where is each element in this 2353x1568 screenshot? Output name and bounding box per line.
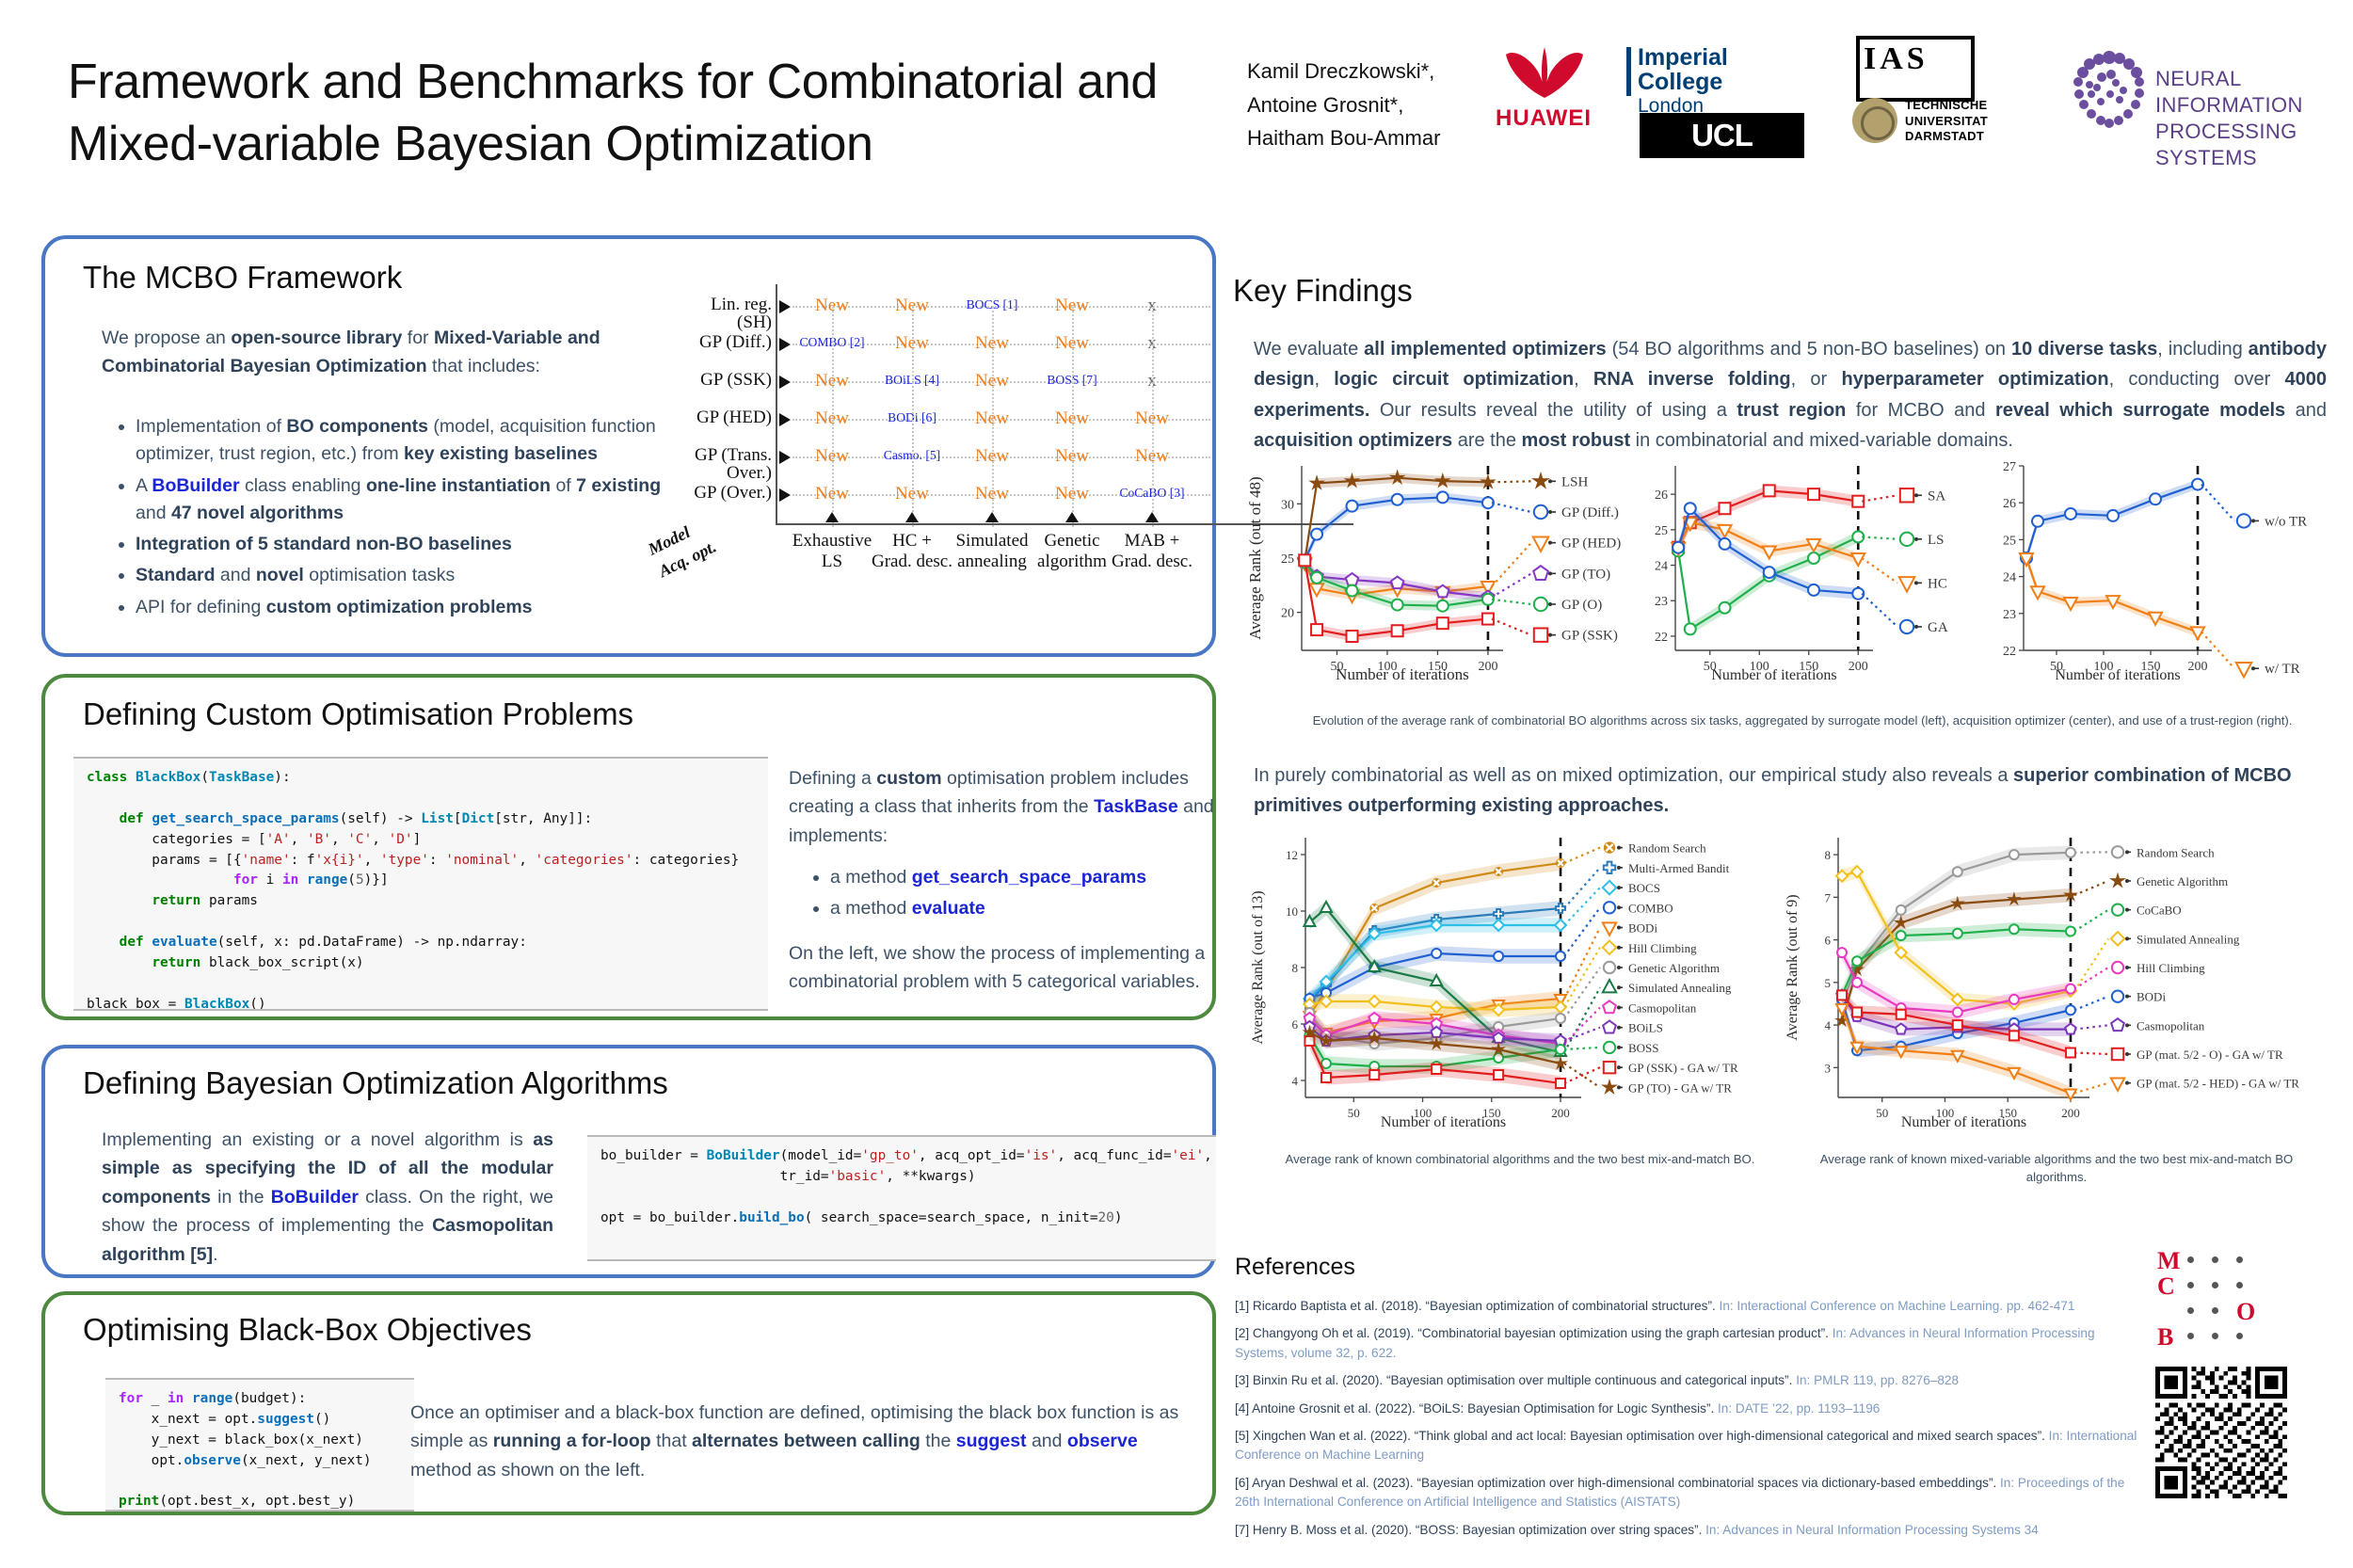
svg-text:w/o TR: w/o TR xyxy=(2265,514,2307,529)
matrix-column-guide xyxy=(1072,307,1075,527)
svg-text:8: 8 xyxy=(1825,848,1832,862)
svg-text:HC: HC xyxy=(1928,576,1947,591)
list-item: a method evaluate xyxy=(830,895,1244,922)
tud-line-3: DARMSTADT xyxy=(1905,129,1988,145)
combinatorial-ranking-chart: 468101250100150200Random SearchMulti-Arm… xyxy=(1247,828,1793,1129)
mcbo-logo: MCOB xyxy=(2155,1247,2278,1351)
matrix-column-tick-icon xyxy=(825,512,839,522)
neurips-dot xyxy=(2097,98,2105,105)
matrix-row-arrow-icon xyxy=(779,338,791,351)
neurips-dot xyxy=(2112,79,2120,87)
list-item: A BoBuilder class enabling one-line inst… xyxy=(136,472,672,528)
matrix-row-arrow-icon xyxy=(779,451,791,464)
svg-text:Simulated Annealing: Simulated Annealing xyxy=(1628,981,1732,995)
panel-blackbox-objectives: Optimising Black-Box Objectives for _ in… xyxy=(41,1291,1216,1515)
mcbo-logo-letter: O xyxy=(2236,1298,2255,1326)
panel-title-framework: The MCBO Framework xyxy=(83,260,402,296)
svg-text:5: 5 xyxy=(1825,976,1832,990)
neurips-dot xyxy=(2135,77,2144,87)
svg-text:LSH: LSH xyxy=(1561,474,1589,489)
svg-text:GP (O): GP (O) xyxy=(1561,598,1602,613)
huawei-flower-icon xyxy=(1493,43,1596,102)
acq-optimizer-chart: 222324252650100150200SALSHCGANumber of i… xyxy=(1638,456,1977,682)
svg-text:Random Search: Random Search xyxy=(1628,841,1706,856)
reference-item: [7] Henry B. Moss et al. (2020). “BOSS: … xyxy=(1235,1521,2148,1540)
reference-item: [6] Aryan Deshwal et al. (2023). “Bayesi… xyxy=(1235,1474,2148,1512)
neurips-dot xyxy=(2073,77,2083,87)
svg-text:COMBO: COMBO xyxy=(1628,901,1673,915)
neurips-line-2: PROCESSING SYSTEMS xyxy=(2155,119,2325,171)
matrix-row-label: GP (HED) xyxy=(648,408,772,426)
tu-darmstadt-logo: IAS TECHNISCHE UNIVERSITAT DARMSTADT xyxy=(1835,36,2033,151)
svg-text:BOiLS: BOiLS xyxy=(1628,1021,1663,1035)
ucl-wordmark: UCL xyxy=(1691,118,1753,153)
neurips-dot xyxy=(2114,116,2123,125)
key-findings-paragraph-1: We evaluate all implemented optimizers (… xyxy=(1254,334,2327,456)
matrix-column-guide xyxy=(912,307,915,527)
model-acq-matrix: Lin. reg.(SH)NewNewBOCS [1]NewxGP (Diff.… xyxy=(648,284,1184,614)
svg-text:Hill Climbing: Hill Climbing xyxy=(2137,961,2205,975)
custom-text-pre: Defining a xyxy=(789,768,876,789)
mcbo-logo-dot xyxy=(2187,1333,2194,1339)
ucl-logo: UCL xyxy=(1640,113,1804,158)
svg-text:Genetic Algorithm: Genetic Algorithm xyxy=(2137,874,2228,888)
key-findings-paragraph-2: In purely combinatorial as well as on mi… xyxy=(1254,760,2327,822)
framework-bullet-list: Implementation of BO components (model, … xyxy=(104,413,672,625)
neurips-dots-icon xyxy=(2052,41,2153,143)
tud-seal-icon xyxy=(1852,98,1897,143)
svg-text:Average Rank (out of 9): Average Rank (out of 9) xyxy=(1785,894,1801,1040)
panel-mcbo-framework: The MCBO Framework We propose an open-so… xyxy=(41,235,1216,657)
matrix-column-tick-icon xyxy=(985,512,999,522)
trust-region-chart-svg: 22232425262750100150200w/o TRw/ TRNumber… xyxy=(1986,456,2315,682)
page-title: Framework and Benchmarks for Combinatori… xyxy=(68,52,1244,175)
panel-bo-algorithms: Defining Bayesian Optimization Algorithm… xyxy=(41,1045,1216,1278)
matrix-row-label: GP (Trans.Over.) xyxy=(648,446,772,482)
svg-text:25: 25 xyxy=(1655,524,1668,538)
svg-text:8: 8 xyxy=(1292,961,1299,975)
mixed-variable-ranking-chart: 34567850100150200Random SearchGenetic Al… xyxy=(1784,828,2329,1129)
matrix-row-arrow-icon xyxy=(779,413,791,426)
svg-text:7: 7 xyxy=(1825,890,1832,904)
trust-region-chart: 22232425262750100150200w/o TRw/ TRNumber… xyxy=(1986,456,2315,682)
svg-text:26: 26 xyxy=(2003,497,2016,511)
custom-text-b1: custom xyxy=(876,768,941,789)
svg-text:6: 6 xyxy=(1825,934,1832,948)
framework-intro-pre: We propose an xyxy=(102,328,231,348)
matrix-row-label: Lin. reg.(SH) xyxy=(648,296,772,331)
imperial-college-logo: Imperial College London xyxy=(1638,45,1807,107)
author-1: Kamil Dreczkowski*, xyxy=(1247,55,1440,88)
neurips-line-1: NEURAL INFORMATION xyxy=(2155,66,2325,119)
custom-closing: On the left, we show the process of impl… xyxy=(789,939,1222,997)
svg-text:Number of iterations: Number of iterations xyxy=(1336,665,1469,682)
author-3: Haitham Bou-Ammar xyxy=(1247,121,1440,155)
reference-item: [5] Xingchen Wan et al. (2022). “Think g… xyxy=(1235,1427,2148,1465)
panel-title-algorithms: Defining Bayesian Optimization Algorithm… xyxy=(83,1065,668,1101)
svg-text:Casmopolitan: Casmopolitan xyxy=(1628,1000,1697,1015)
neurips-wordmark: NEURAL INFORMATION PROCESSING SYSTEMS xyxy=(2155,66,2325,172)
matrix-column-tick-icon xyxy=(905,512,919,522)
svg-text:200: 200 xyxy=(2188,660,2208,674)
svg-text:3: 3 xyxy=(1825,1061,1832,1075)
svg-text:w/ TR: w/ TR xyxy=(2265,662,2300,677)
matrix-row-arrow-icon xyxy=(779,376,791,389)
mcbo-logo-dot xyxy=(2187,1307,2194,1314)
svg-text:25: 25 xyxy=(1281,552,1294,567)
list-item: Implementation of BO components (model, … xyxy=(136,413,672,469)
svg-text:4: 4 xyxy=(1292,1074,1299,1088)
reference-item: [1] Ricardo Baptista et al. (2018). “Bay… xyxy=(1235,1297,2148,1316)
svg-text:GA: GA xyxy=(1928,620,1948,635)
mixed-variable-ranking-chart-svg: 34567850100150200Random SearchGenetic Al… xyxy=(1784,828,2329,1129)
svg-text:Number of iterations: Number of iterations xyxy=(1711,667,1836,682)
matrix-column-guide xyxy=(832,307,835,527)
mcbo-logo-letter: B xyxy=(2157,1323,2173,1352)
huawei-wordmark: HUAWEI xyxy=(1468,105,1619,132)
framework-intro-post: that includes: xyxy=(427,356,540,376)
svg-text:Number of iterations: Number of iterations xyxy=(1381,1114,1506,1129)
list-item: a method get_search_space_params xyxy=(830,864,1244,891)
svg-text:GP (mat. 5/2 - O) - GA w/ TR: GP (mat. 5/2 - O) - GA w/ TR xyxy=(2137,1048,2283,1062)
matrix-row-label: GP (SSK) xyxy=(648,371,772,389)
svg-text:24: 24 xyxy=(1655,560,1668,574)
neurips-dot xyxy=(2135,88,2144,98)
qr-code-icon[interactable] xyxy=(2155,1367,2287,1498)
svg-text:24: 24 xyxy=(2003,571,2016,585)
bo-builder-code[interactable]: bo_builder = BoBuilder(model_id='gp_to',… xyxy=(587,1135,1216,1261)
framework-intro: We propose an open-source library for Mi… xyxy=(102,324,629,381)
tud-wordmark: TECHNISCHE UNIVERSITAT DARMSTADT xyxy=(1905,98,1988,145)
svg-text:Genetic Algorithm: Genetic Algorithm xyxy=(1628,961,1720,975)
svg-text:22: 22 xyxy=(1655,631,1668,645)
mcbo-logo-letter: M xyxy=(2157,1247,2181,1275)
svg-text:25: 25 xyxy=(2003,534,2016,548)
svg-text:CoCaBO: CoCaBO xyxy=(2137,904,2182,918)
matrix-column-tick-icon xyxy=(1065,512,1079,522)
svg-text:200: 200 xyxy=(1849,660,1868,674)
custom-text-b2: TaskBase xyxy=(1094,796,1178,817)
neurips-dot xyxy=(2087,109,2096,119)
neurips-dot xyxy=(2086,81,2093,88)
custom-problem-code[interactable]: class BlackBox(TaskBase): def get_search… xyxy=(73,757,768,1011)
mcbo-logo-dot xyxy=(2236,1333,2243,1339)
svg-text:23: 23 xyxy=(1655,595,1668,609)
custom-description: Defining a custom optimisation problem i… xyxy=(789,764,1222,850)
reference-item: [3] Binxin Ru et al. (2020). “Bayesian o… xyxy=(1235,1371,2148,1390)
svg-text:LS: LS xyxy=(1928,533,1945,548)
matrix-column-label: MAB +Grad. desc. xyxy=(1100,531,1204,571)
neurips-dot xyxy=(2106,70,2116,79)
author-2: Antoine Grosnit*, xyxy=(1247,88,1440,122)
framework-intro-mid: for xyxy=(402,328,434,348)
imperial-line-1: Imperial College xyxy=(1638,45,1807,95)
matrix-row-label: GP (Diff.) xyxy=(648,333,772,351)
svg-text:Casmopolitan: Casmopolitan xyxy=(2137,1018,2205,1032)
matrix-y-axis xyxy=(776,284,777,523)
neurips-dot xyxy=(2106,90,2114,98)
svg-text:12: 12 xyxy=(1286,848,1298,862)
matrix-row-label: GP (Over.) xyxy=(648,484,772,502)
panel-title-key-findings: Key Findings xyxy=(1233,273,1413,309)
svg-text:GP (TO): GP (TO) xyxy=(1561,567,1610,582)
neurips-dot xyxy=(2120,87,2127,94)
caption-mixed-chart: Average rank of known mixed-variable alg… xyxy=(1793,1150,2320,1186)
ias-wordmark: IAS xyxy=(1864,41,1929,77)
neurips-dot xyxy=(2088,90,2095,98)
svg-text:27: 27 xyxy=(2003,460,2016,474)
combinatorial-ranking-chart-svg: 468101250100150200Random SearchMulti-Arm… xyxy=(1247,828,1793,1129)
references-title: References xyxy=(1235,1254,1355,1281)
reference-item: [2] Changyong Oh et al. (2019). “Combina… xyxy=(1235,1324,2148,1363)
svg-text:GP (HED): GP (HED) xyxy=(1561,536,1621,552)
svg-text:200: 200 xyxy=(1551,1106,1570,1120)
svg-text:6: 6 xyxy=(1292,1017,1299,1032)
surrogate-model-chart-svg: 20253050100150200LSHGP (Diff.)GP (HED)GP… xyxy=(1247,456,1624,682)
neurips-dot xyxy=(2097,72,2106,82)
mcbo-logo-dot xyxy=(2212,1307,2218,1314)
svg-text:GP (mat. 5/2 - HED) - GA w/ TR: GP (mat. 5/2 - HED) - GA w/ TR xyxy=(2137,1077,2299,1091)
mcbo-logo-dot xyxy=(2187,1256,2194,1263)
logo-strip: HUAWEI Imperial College London UCL IAS T… xyxy=(1468,24,2320,147)
svg-text:22: 22 xyxy=(2003,645,2016,659)
svg-text:BODi: BODi xyxy=(2137,990,2166,1004)
tud-line-1: TECHNISCHE xyxy=(1905,98,1988,114)
svg-text:BOSS: BOSS xyxy=(1628,1041,1659,1055)
neurips-dot xyxy=(2105,119,2114,128)
surrogate-model-chart: 20253050100150200LSHGP (Diff.)GP (HED)GP… xyxy=(1247,456,1624,682)
svg-text:Number of iterations: Number of iterations xyxy=(1901,1114,2026,1129)
panel-title-custom: Defining Custom Optimisation Problems xyxy=(83,696,633,732)
qr-code[interactable] xyxy=(2155,1367,2287,1498)
tud-line-2: UNIVERSITAT xyxy=(1905,114,1988,130)
mcbo-logo-dot xyxy=(2212,1282,2218,1288)
neurips-dot xyxy=(2079,100,2089,109)
mcbo-logo-dot xyxy=(2236,1282,2243,1288)
svg-text:GP (Diff.): GP (Diff.) xyxy=(1561,505,1619,520)
neurips-dot xyxy=(2093,84,2101,91)
method-name-get-search-space-params: get_search_space_params xyxy=(912,867,1146,888)
acq-optimizer-chart-svg: 222324252650100150200SALSHCGANumber of i… xyxy=(1638,456,1977,682)
reference-item: [4] Antoine Grosnit et al. (2022). “BOiL… xyxy=(1235,1400,2148,1418)
matrix-corner-label: ModelAcq. opt. xyxy=(644,512,721,584)
matrix-column-tick-icon xyxy=(1145,512,1159,522)
neurips-dot xyxy=(2074,89,2084,99)
svg-text:GP (SSK): GP (SSK) xyxy=(1561,629,1618,644)
svg-text:Random Search: Random Search xyxy=(2137,845,2215,859)
huawei-logo: HUAWEI xyxy=(1468,43,1619,142)
matrix-column-guide xyxy=(1152,307,1155,527)
mcbo-logo-dot xyxy=(2212,1256,2218,1263)
svg-text:Number of iterations: Number of iterations xyxy=(2055,667,2180,682)
svg-text:30: 30 xyxy=(1281,498,1294,512)
svg-text:200: 200 xyxy=(1478,660,1497,674)
svg-text:GP (SSK) - GA w/ TR: GP (SSK) - GA w/ TR xyxy=(1628,1061,1738,1075)
svg-text:26: 26 xyxy=(1655,488,1668,503)
reference-list: [1] Ricardo Baptista et al. (2018). “Bay… xyxy=(1235,1297,2148,1548)
mcbo-logo-dot xyxy=(2187,1282,2194,1288)
neurips-logo: NEURAL INFORMATION PROCESSING SYSTEMS xyxy=(2052,41,2325,147)
svg-text:4: 4 xyxy=(1825,1018,1832,1032)
svg-text:BOCS: BOCS xyxy=(1628,881,1660,895)
author-list: Kamil Dreczkowski*, Antoine Grosnit*, Ha… xyxy=(1247,55,1440,155)
svg-text:10: 10 xyxy=(1286,904,1298,919)
svg-text:Average Rank (out of 48): Average Rank (out of 48) xyxy=(1247,476,1264,639)
neurips-dot xyxy=(2116,96,2123,104)
caption-combinatorial-chart: Average rank of known combinatorial algo… xyxy=(1275,1150,1765,1168)
list-item: API for defining custom optimization pro… xyxy=(136,594,672,621)
optimisation-loop-code[interactable]: for _ in range(budget): x_next = opt.sug… xyxy=(105,1378,414,1512)
poster-root: Framework and Benchmarks for Combinatori… xyxy=(0,0,2353,1568)
list-item: Standard and novel optimisation tasks xyxy=(136,562,672,589)
matrix-row-arrow-icon xyxy=(779,488,791,502)
matrix-row-arrow-icon xyxy=(779,300,791,313)
list-item: Integration of 5 standard non-BO baselin… xyxy=(136,531,672,558)
svg-text:50: 50 xyxy=(1876,1106,1888,1120)
svg-text:50: 50 xyxy=(1348,1106,1360,1120)
neurips-dot xyxy=(2131,100,2140,109)
algorithms-description: Implementing an existing or a novel algo… xyxy=(102,1126,553,1269)
svg-text:Simulated Annealing: Simulated Annealing xyxy=(2137,932,2240,946)
custom-method-list: a method get_search_space_params a metho… xyxy=(798,864,1244,927)
svg-text:Average Rank (out of 13): Average Rank (out of 13) xyxy=(1250,890,1266,1044)
mcbo-logo-dot xyxy=(2236,1256,2243,1263)
svg-text:200: 200 xyxy=(2061,1106,2080,1120)
svg-text:23: 23 xyxy=(2003,608,2016,622)
svg-text:GP (TO) - GA w/ TR: GP (TO) - GA w/ TR xyxy=(1628,1080,1732,1095)
imperial-bar-icon xyxy=(1626,47,1631,96)
svg-text:20: 20 xyxy=(1281,607,1294,621)
panel-custom-problems: Defining Custom Optimisation Problems cl… xyxy=(41,674,1216,1020)
svg-text:BODi: BODi xyxy=(1628,921,1657,936)
blackbox-description: Once an optimiser and a black-box functi… xyxy=(410,1399,1192,1484)
mcbo-logo-letter: C xyxy=(2157,1272,2175,1301)
panel-title-blackbox: Optimising Black-Box Objectives xyxy=(83,1312,532,1348)
mcbo-logo-dot xyxy=(2212,1333,2218,1339)
caption-top-charts: Evolution of the average rank of combina… xyxy=(1304,712,2301,729)
matrix-column-guide xyxy=(992,307,995,527)
svg-text:Multi-Armed Bandit: Multi-Armed Bandit xyxy=(1628,861,1730,875)
svg-text:Hill Climbing: Hill Climbing xyxy=(1628,941,1697,955)
method-name-evaluate: evaluate xyxy=(912,898,985,919)
framework-intro-b1: open-source library xyxy=(231,328,402,348)
neurips-dot xyxy=(2123,109,2133,119)
svg-text:SA: SA xyxy=(1928,488,1945,504)
